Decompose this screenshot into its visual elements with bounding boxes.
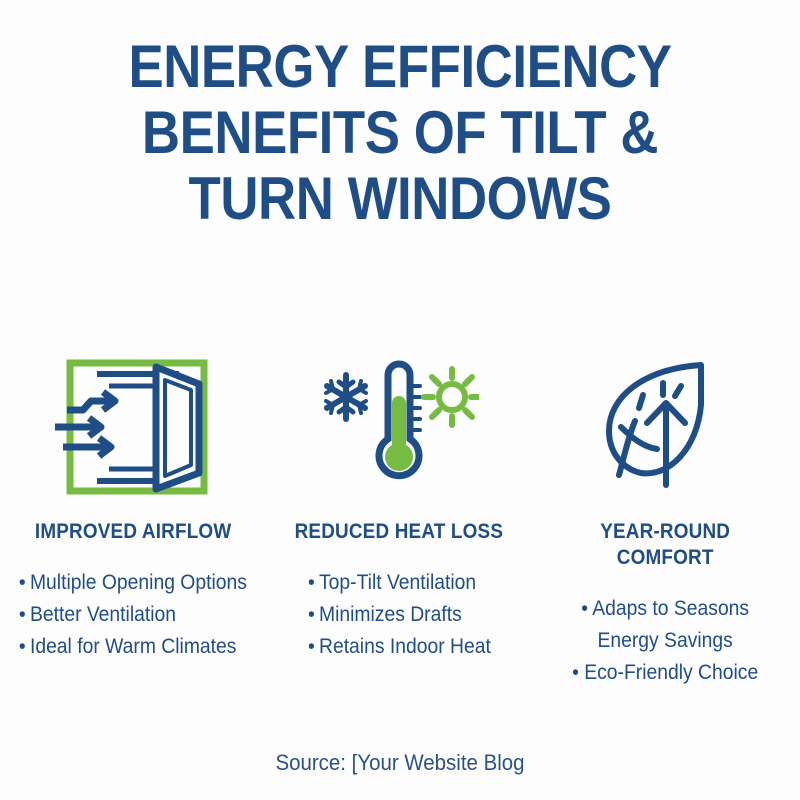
list-item: • Adaps to Seasons bbox=[572, 593, 758, 625]
bullet-marker: • bbox=[308, 599, 319, 631]
list-item-label: Adaps to Seasons bbox=[592, 597, 749, 620]
list-item-label: Energy Savings bbox=[597, 629, 732, 652]
bullet-marker: • bbox=[308, 631, 319, 663]
list-item-label: Eco-Friendly Choice bbox=[584, 661, 758, 684]
column-heading: YEAR-ROUND COMFORT bbox=[600, 519, 730, 571]
benefit-column-reduced-heat-loss: REDUCED HEAT LOSS •Top-Tilt Ventilation … bbox=[266, 345, 532, 663]
benefit-list: •Multiple Opening Options •Better Ventil… bbox=[19, 567, 247, 663]
column-heading: REDUCED HEAT LOSS bbox=[295, 519, 504, 545]
bullet-marker: • bbox=[19, 631, 30, 663]
list-item: • Eco-Friendly Choice bbox=[572, 657, 758, 689]
bullet-marker: • bbox=[19, 599, 30, 631]
benefit-column-year-round-comfort: YEAR-ROUND COMFORT • Adaps to Seasons En… bbox=[532, 345, 798, 689]
bullet-marker: • bbox=[19, 567, 30, 599]
leaf-growth-arrow-icon bbox=[585, 345, 745, 505]
list-item-label: Better Ventilation bbox=[30, 603, 176, 626]
list-item-label: Minimizes Drafts bbox=[319, 603, 462, 626]
list-item: •Ideal for Warm Climates bbox=[19, 631, 247, 663]
bullet-marker: • bbox=[572, 661, 579, 684]
benefit-list: •Top-Tilt Ventilation •Minimizes Drafts … bbox=[308, 567, 491, 663]
sun-icon bbox=[424, 369, 479, 425]
source-attribution: Source: [Your Website Blog bbox=[28, 750, 772, 776]
title-line-2: BENEFITS OF TILT & bbox=[48, 100, 752, 166]
list-item: •Minimizes Drafts bbox=[308, 599, 491, 631]
benefit-list: • Adaps to Seasons Energy Savings • Eco-… bbox=[572, 593, 758, 689]
title-line-3: TURN WINDOWS bbox=[48, 166, 752, 232]
open-window-airflow-icon bbox=[53, 345, 213, 505]
list-item-label: Multiple Opening Options bbox=[30, 571, 247, 594]
list-item-label: Ideal for Warm Climates bbox=[30, 635, 236, 658]
list-item: Energy Savings bbox=[572, 625, 758, 657]
list-item: •Multiple Opening Options bbox=[19, 567, 247, 599]
bullet-marker: • bbox=[308, 567, 319, 599]
benefit-column-improved-airflow: IMPROVED AIRFLOW •Multiple Opening Optio… bbox=[0, 345, 266, 663]
list-item: •Retains Indoor Heat bbox=[308, 631, 491, 663]
title-line-1: ENERGY EFFICIENCY bbox=[48, 34, 752, 100]
thermometer-snowflake-sun-icon bbox=[319, 345, 479, 505]
list-item: •Better Ventilation bbox=[19, 599, 247, 631]
page-title: ENERGY EFFICIENCY BENEFITS OF TILT & TUR… bbox=[0, 0, 800, 232]
column-heading: IMPROVED AIRFLOW bbox=[35, 519, 231, 545]
list-item-label: Top-Tilt Ventilation bbox=[319, 571, 476, 594]
snowflake-icon bbox=[326, 375, 366, 419]
list-item: •Top-Tilt Ventilation bbox=[308, 567, 491, 599]
list-item-label: Retains Indoor Heat bbox=[319, 635, 491, 658]
benefits-columns: IMPROVED AIRFLOW •Multiple Opening Optio… bbox=[0, 345, 800, 689]
bullet-marker: • bbox=[581, 597, 588, 620]
